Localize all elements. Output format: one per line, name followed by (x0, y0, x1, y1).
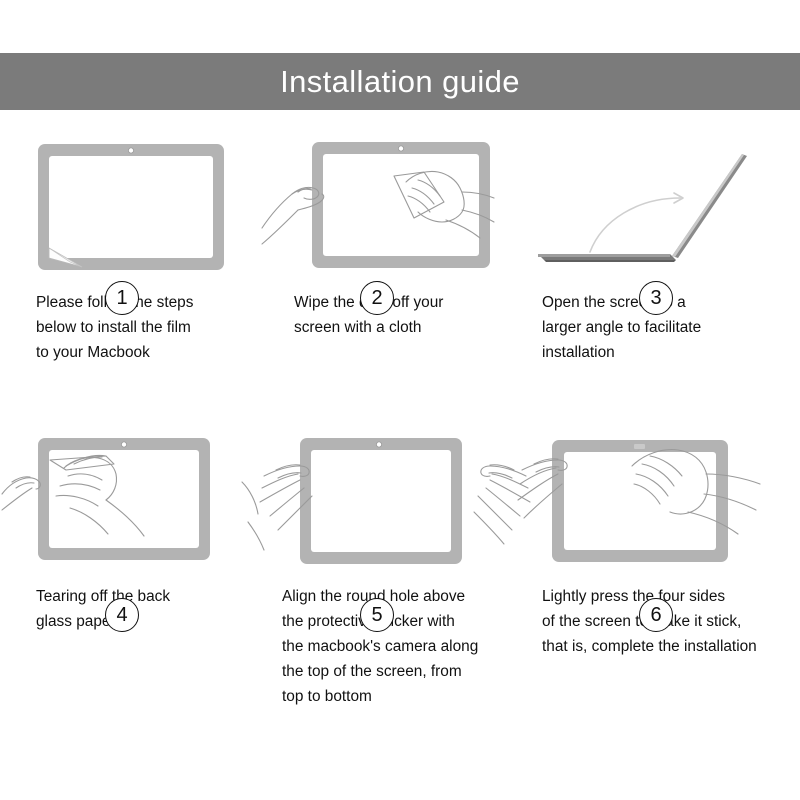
step-badge-2: 2 (360, 281, 394, 315)
step-card-5: Align the round hole above the protectiv… (268, 430, 524, 709)
step-illustration-2 (268, 136, 524, 276)
step-illustration-3 (528, 136, 784, 276)
step-badge-4-label: 4 (116, 604, 127, 627)
step-illustration-6 (528, 430, 784, 570)
step-card-3: Open the screen to a larger angle to fac… (528, 136, 784, 365)
step-badge-3: 3 (639, 281, 673, 315)
steps-grid: Please follow the steps below to install… (0, 110, 800, 800)
step-card-1: Please follow the steps below to install… (10, 136, 266, 365)
step-badge-5-label: 5 (371, 604, 382, 627)
step-badge-2-label: 2 (371, 287, 382, 310)
page-title: Installation guide (280, 66, 520, 97)
step-illustration-4 (10, 430, 266, 570)
step-badge-row-top: 1 2 3 (0, 281, 800, 321)
step-badge-1-label: 1 (116, 287, 127, 310)
step-badge-4: 4 (105, 598, 139, 632)
step-illustration-1 (10, 136, 266, 276)
step-badge-1: 1 (105, 281, 139, 315)
step-illustration-5 (268, 430, 524, 570)
step-badge-3-label: 3 (650, 287, 661, 310)
step-badge-row-bottom: 4 5 6 (0, 598, 800, 638)
step-badge-5: 5 (360, 598, 394, 632)
installation-guide-page: Installation guide Please follow the ste… (0, 0, 800, 800)
step-badge-6: 6 (639, 598, 673, 632)
header-banner: Installation guide (0, 53, 800, 110)
step-badge-6-label: 6 (650, 604, 661, 627)
